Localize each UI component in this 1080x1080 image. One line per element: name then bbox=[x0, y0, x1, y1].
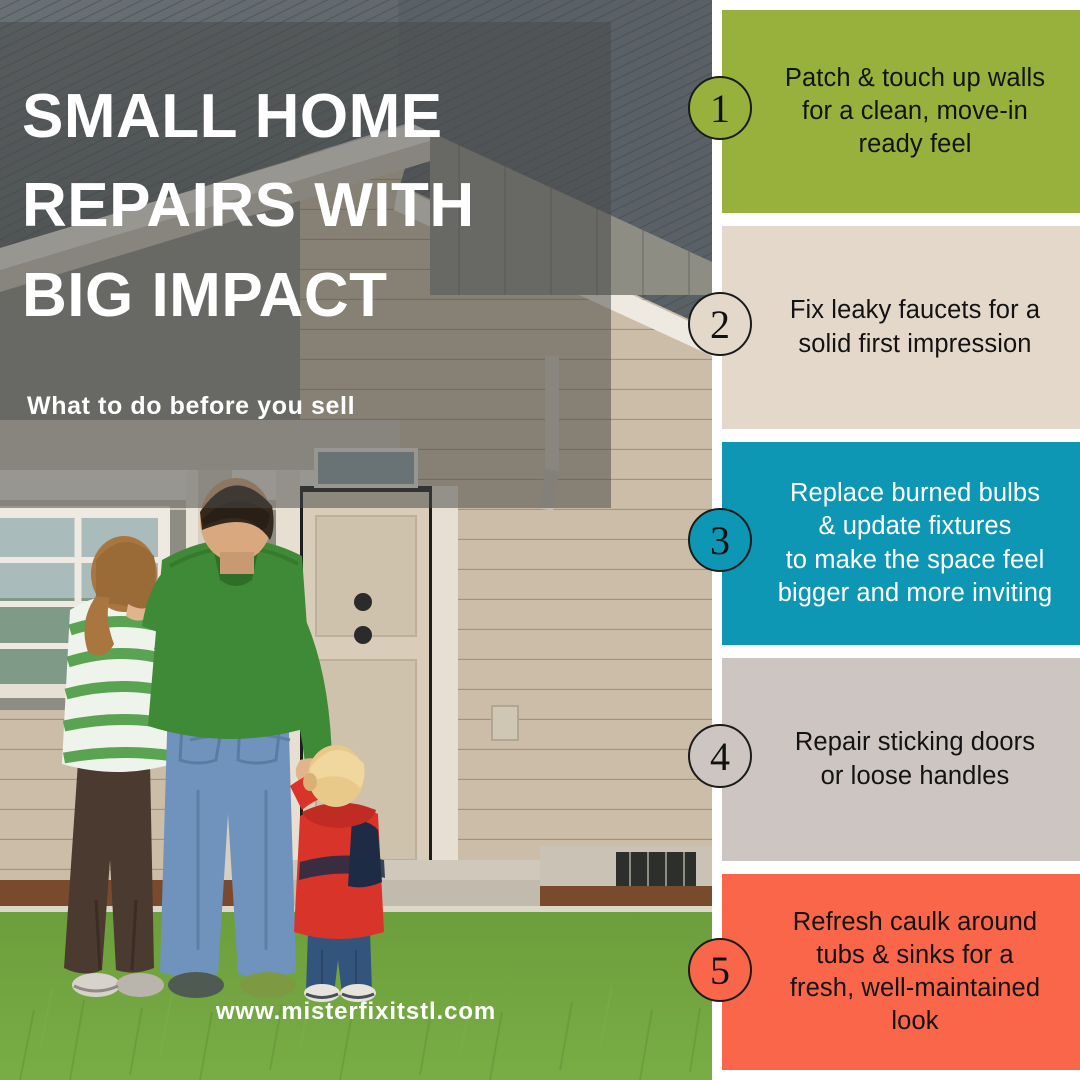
tips-list: Patch & touch up walls for a clean, move… bbox=[722, 0, 1080, 1080]
page-subtitle: What to do before you sell bbox=[27, 392, 355, 421]
page-title: SMALL HOME REPAIRS WITH BIG IMPACT bbox=[22, 72, 622, 340]
tip-number-badge-2: 2 bbox=[688, 292, 752, 356]
tip-number-5: 5 bbox=[710, 947, 730, 994]
tip-number-1: 1 bbox=[710, 85, 730, 132]
title-line-3: BIG IMPACT bbox=[22, 251, 622, 340]
tip-panel-3: Replace burned bulbs & update fixtures t… bbox=[722, 442, 1080, 645]
tip-panel-1: Patch & touch up walls for a clean, move… bbox=[722, 10, 1080, 213]
tip-number-badge-4: 4 bbox=[688, 724, 752, 788]
tip-number-badge-5: 5 bbox=[688, 938, 752, 1002]
title-line-2: REPAIRS WITH bbox=[22, 161, 622, 250]
infographic-canvas: SMALL HOME REPAIRS WITH BIG IMPACT What … bbox=[0, 0, 1080, 1080]
tip-panel-2: Fix leaky faucets for a solid first impr… bbox=[722, 226, 1080, 429]
tip-number-badge-3: 3 bbox=[688, 508, 752, 572]
tip-text-1: Patch & touch up walls for a clean, move… bbox=[748, 62, 1054, 161]
title-line-1: SMALL HOME bbox=[22, 72, 622, 161]
tip-number-2: 2 bbox=[710, 301, 730, 348]
tip-text-2: Fix leaky faucets for a solid first impr… bbox=[748, 294, 1054, 360]
tip-number-badge-1: 1 bbox=[688, 76, 752, 140]
tip-panel-5: Refresh caulk around tubs & sinks for a … bbox=[722, 874, 1080, 1070]
tip-panel-4: Repair sticking doors or loose handles bbox=[722, 658, 1080, 861]
tip-number-3: 3 bbox=[710, 517, 730, 564]
website-url: www.misterfixitstl.com bbox=[0, 998, 712, 1026]
tip-text-3: Replace burned bulbs & update fixtures t… bbox=[748, 477, 1054, 610]
tip-number-4: 4 bbox=[710, 733, 730, 780]
tip-text-5: Refresh caulk around tubs & sinks for a … bbox=[748, 906, 1054, 1039]
tip-text-4: Repair sticking doors or loose handles bbox=[748, 726, 1054, 792]
